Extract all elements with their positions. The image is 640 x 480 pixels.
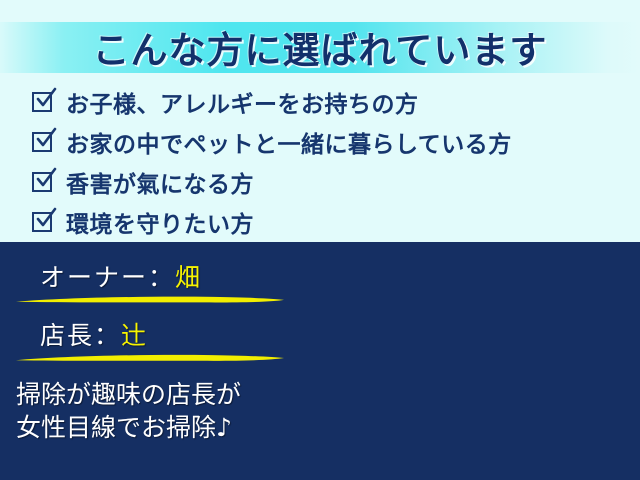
list-item-label: 環境を守りたい方 [66,205,254,239]
list-item: お家の中でペットと一緒に暮らしている方 [32,122,632,162]
checked-box-icon [32,92,52,112]
checked-box-icon [32,212,52,232]
benefits-checklist: お子様、アレルギーをお持ちの方 お家の中でペットと一緒に暮らしている方 香害が氣… [32,82,632,242]
page-title: こんな方に選ばれています [0,18,640,76]
list-item: 香害が氣になる方 [32,162,632,202]
owner-role-label: オーナー： [40,263,175,292]
check-mark-icon [35,167,57,189]
manager-line: 店長：辻 [40,316,148,352]
manager-role-label: 店長： [40,321,121,350]
manager-name: 辻 [121,321,148,350]
tagline: 掃除が趣味の店長が 女性目線でお掃除♪ [16,378,241,444]
check-mark-icon [35,207,57,229]
manager-underline-brush [14,352,286,363]
owner-name: 畑 [175,263,202,292]
check-mark-icon [35,127,57,149]
tagline-line-1: 掃除が趣味の店長が [16,378,241,411]
list-item-label: お子様、アレルギーをお持ちの方 [66,85,419,119]
list-item: お子様、アレルギーをお持ちの方 [32,82,632,122]
check-mark-icon [35,87,57,109]
owner-underline-brush [14,294,286,305]
checked-box-icon [32,172,52,192]
promo-banner: こんな方に選ばれています お子様、アレルギーをお持ちの方 お家の中でペットと一緒… [0,0,640,480]
list-item: 環境を守りたい方 [32,202,632,242]
checked-box-icon [32,132,52,152]
owner-line: オーナー：畑 [40,258,202,294]
tagline-line-2: 女性目線でお掃除♪ [16,411,241,444]
list-item-label: 香害が氣になる方 [66,165,254,199]
top-section: こんな方に選ばれています お子様、アレルギーをお持ちの方 お家の中でペットと一緒… [0,0,640,243]
list-item-label: お家の中でペットと一緒に暮らしている方 [66,125,512,159]
